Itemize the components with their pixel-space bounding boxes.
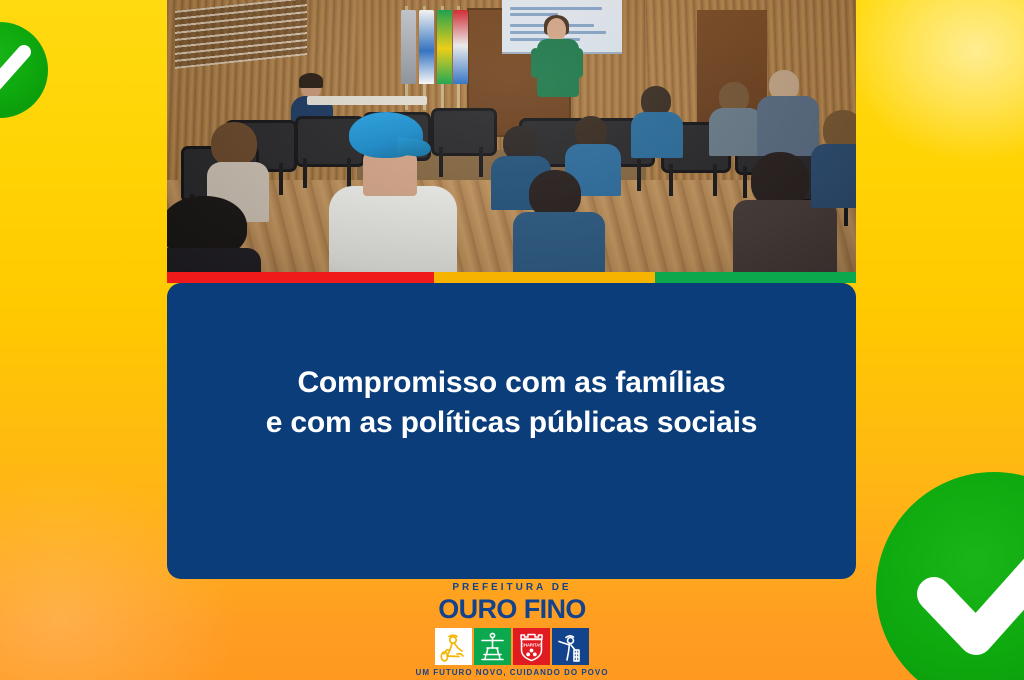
social-media-post: Compromisso com as famílias e com as pol… — [0, 0, 1024, 680]
check-icon — [0, 22, 48, 118]
christ-redeemer-tile — [474, 628, 511, 665]
wall-vent-icon — [175, 0, 307, 69]
logo-tagline: UM FUTURO NOVO, CUIDANDO DO POVO — [416, 669, 609, 677]
tricolor-stripe — [167, 272, 856, 283]
city-hall-logo: PREFEITURA DE OURO FINO — [0, 583, 1024, 677]
foreground-person-shirt — [329, 186, 457, 272]
logo-kicker: PREFEITURA DE — [452, 583, 571, 593]
background-glow-top-right — [846, 0, 1024, 160]
farmer-icon — [435, 628, 472, 665]
stripe-segment-yellow — [434, 272, 655, 283]
logo-name: OURO FINO — [438, 596, 586, 623]
headline-card: Compromisso com as famílias e com as pol… — [167, 283, 856, 579]
coat-of-arms-motto: CHARITAS — [521, 643, 542, 648]
construction-worker-icon — [552, 628, 589, 665]
event-photo — [167, 0, 856, 272]
check-badge-top-left — [0, 22, 48, 118]
blue-cap — [345, 112, 429, 168]
check-icon — [876, 472, 1024, 680]
coat-of-arms-icon: CHARITAS — [513, 628, 550, 665]
farmer-tile — [435, 628, 472, 665]
check-badge-bottom-right — [876, 472, 1024, 680]
christ-redeemer-icon — [474, 628, 511, 665]
stripe-segment-red — [167, 272, 434, 283]
worker-tile — [552, 628, 589, 665]
front-table — [307, 96, 427, 105]
stripe-segment-green — [655, 272, 856, 283]
chair — [431, 108, 491, 176]
logo-tiles: CHARITAS — [435, 628, 589, 665]
headline-text: Compromisso com as famílias e com as pol… — [266, 283, 758, 443]
coat-of-arms-tile: CHARITAS — [513, 628, 550, 665]
